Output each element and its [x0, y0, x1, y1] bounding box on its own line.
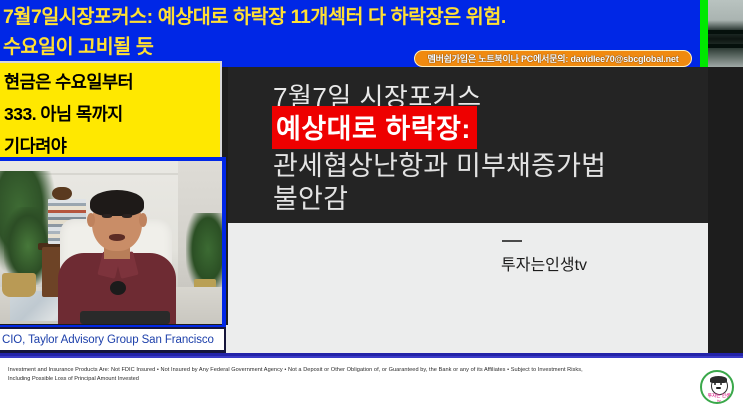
- yellow-caption-box: 현금은 수요일부터 333. 아님 목까지 기다려야: [0, 61, 222, 161]
- channel-logo-badge: 투자는 인생 tv: [700, 370, 734, 404]
- webcam-video-feed: [0, 161, 224, 324]
- speaker-hair: [90, 190, 144, 216]
- logo-eye-left-icon: [714, 383, 716, 385]
- disclaimer-line-2: Including Possible Loss of Principal Amo…: [8, 375, 733, 384]
- slide-subtitle-line-2: 불안감: [273, 177, 348, 216]
- ear-left: [87, 213, 95, 227]
- lower-slide-strip: [226, 325, 708, 355]
- plant-pot-left: [2, 273, 36, 297]
- slide-highlight: 예상대로 하락장:: [272, 106, 477, 149]
- headline-line-1: 7월7일시장포커스: 예상대로 하락장 11개섹터 다 하락장은 위험.: [0, 0, 700, 32]
- slide-dark-right-filler: [708, 67, 743, 357]
- logo-hair-icon: [710, 376, 727, 383]
- eye-right: [122, 214, 132, 218]
- yellow-caption-line-3: 기다려야: [4, 130, 216, 162]
- dash-rule-icon: [502, 240, 522, 242]
- eye-left: [102, 214, 112, 218]
- logo-mouth-icon: [716, 387, 721, 389]
- chroma-green-strip: [700, 0, 708, 67]
- ear-right: [139, 213, 147, 227]
- screen-capture: 7월7일시장포커스: 예상대로 하락장 11개섹터 다 하락장은 위험. 수요일…: [0, 0, 743, 408]
- desk-edge: [80, 311, 170, 324]
- speaker-mouth: [109, 234, 125, 241]
- disclaimer-band: Investment and Insurance Products Are: N…: [0, 358, 743, 408]
- disclaimer-line-1: Investment and Insurance Products Are: N…: [8, 366, 708, 375]
- yellow-caption-line-2: 333. 아님 목까지: [4, 98, 216, 130]
- lower-third-name-caption: CIO, Taylor Advisory Group San Francisco: [0, 327, 226, 352]
- logo-eye-right-icon: [720, 383, 722, 385]
- football-decor: [52, 187, 72, 200]
- lapel-microphone: [110, 281, 126, 295]
- membership-email-text: 멤버쉽가입은 노트북이나 PC에서문의: davidlee70@sbcgloba…: [427, 52, 678, 65]
- channel-name: 투자는인생tv: [501, 251, 587, 275]
- right-video-sliver: [708, 0, 743, 67]
- membership-email-pill: 멤버쉽가입은 노트북이나 PC에서문의: davidlee70@sbcgloba…: [414, 50, 692, 67]
- slide-dark-panel: 7월7일 시장포커스 예상대로 하락장: 관세협상난항과 미부채증가법 불안감: [228, 67, 708, 223]
- yellow-caption-line-1: 현금은 수요일부터: [4, 66, 216, 98]
- lower-third-name-text: CIO, Taylor Advisory Group San Francisco: [2, 334, 214, 346]
